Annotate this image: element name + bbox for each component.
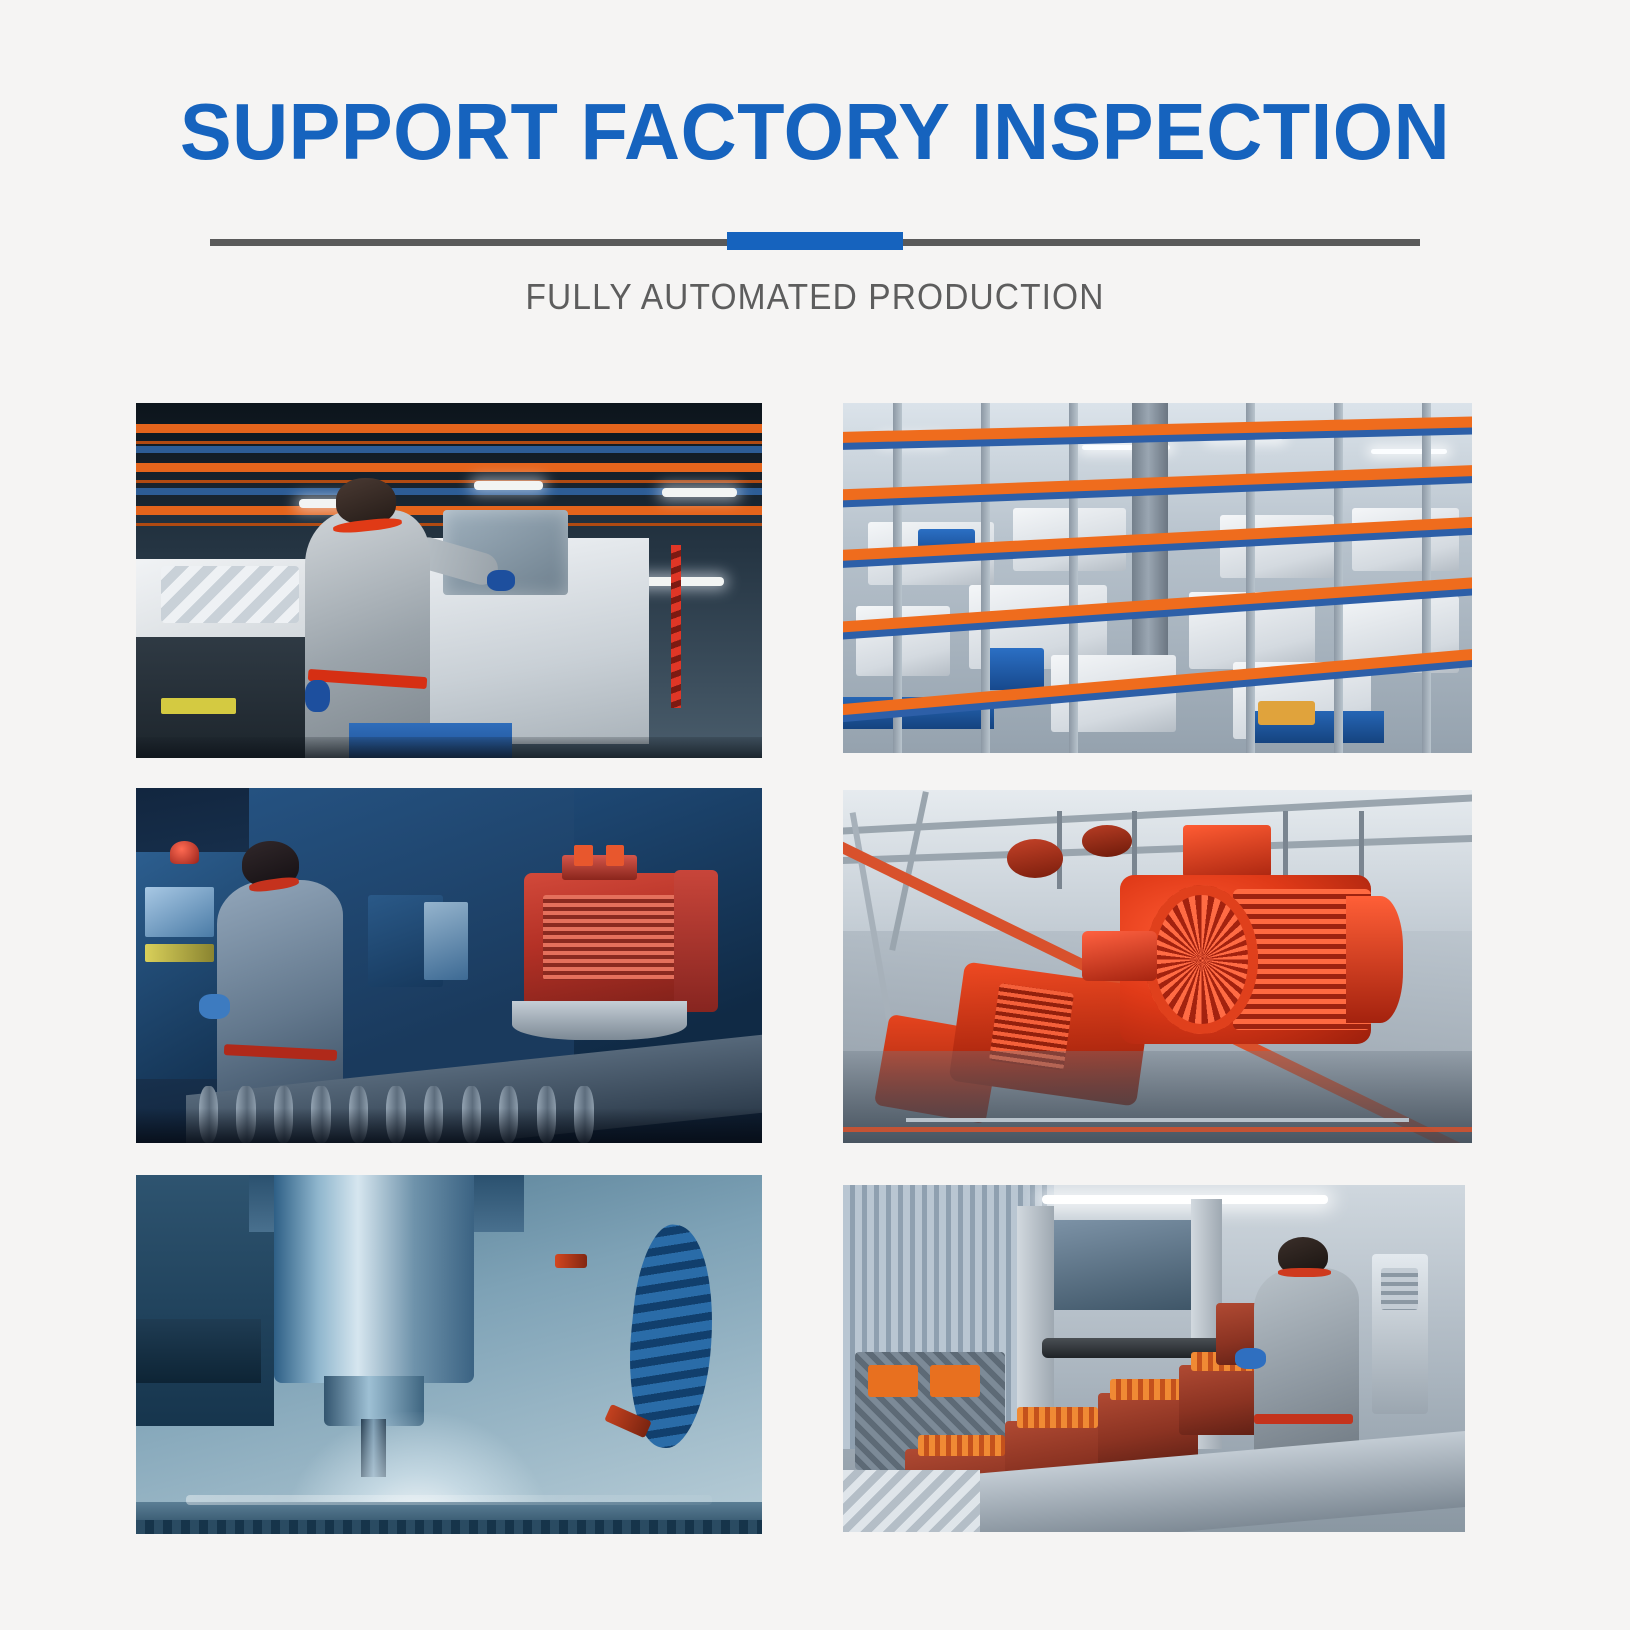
photo-operator-conveyor-motor: Operator at a control console while a re…	[136, 788, 762, 1143]
photo-red-motors-overhead-line: Red painted electric motors suspended fr…	[843, 790, 1472, 1143]
photo-factory-overhead-view: Overhead view of the automated productio…	[843, 403, 1472, 753]
photo-stator-assembly-line: Worker supervising the motor stator asse…	[843, 1185, 1465, 1532]
photo-gallery: Worker operating a CNC lathe under orang…	[0, 0, 1630, 1630]
photo-cnc-lathe-operator: Worker operating a CNC lathe under orang…	[136, 403, 762, 758]
factory-inspection-banner: SUPPORT FACTORY INSPECTION FULLY AUTOMAT…	[0, 0, 1630, 1630]
photo-cnc-milling-coolant: Close-up of a CNC milling spindle cuttin…	[136, 1175, 762, 1534]
